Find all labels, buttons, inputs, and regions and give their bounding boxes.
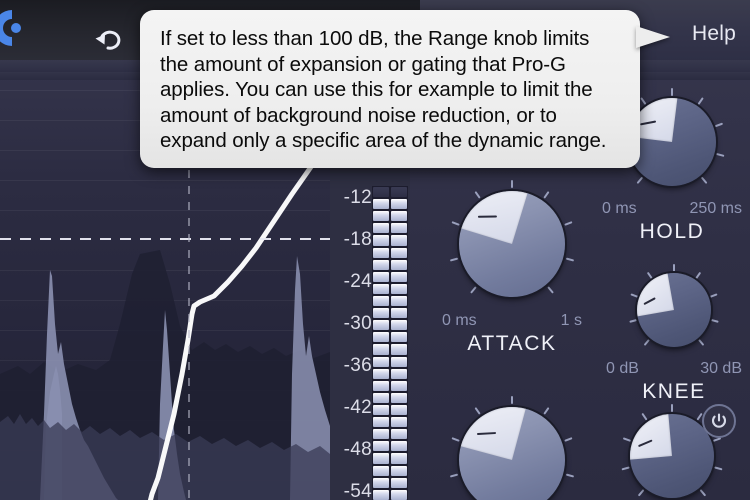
meter-segment <box>373 320 389 330</box>
meter-segment <box>373 357 389 367</box>
attack-label: ATTACK <box>432 332 592 356</box>
undo-arrow-icon <box>93 26 123 54</box>
knob-tick <box>623 437 631 442</box>
meter-segment <box>373 466 389 476</box>
meter-segment <box>373 478 389 488</box>
knob-group-attack: 0 ms 1 s ATTACK <box>432 180 592 356</box>
tooltip-text: If set to less than 100 dB, the Range kn… <box>160 26 620 154</box>
meter-segment <box>391 211 407 221</box>
meter-segment <box>373 248 389 258</box>
meter-segment <box>373 272 389 282</box>
meter-segment <box>391 393 407 403</box>
meter-segment <box>373 381 389 391</box>
meter-segment <box>373 344 389 354</box>
knob-tick <box>564 437 572 442</box>
knob-tick <box>474 407 480 415</box>
knee-range-labels: 0 dB 30 dB <box>606 360 742 378</box>
meter-column-left <box>373 186 389 500</box>
db-tick: -12 <box>326 187 372 209</box>
knob-tick <box>671 404 673 412</box>
meter-segment <box>373 284 389 294</box>
db-tick: -42 <box>326 397 372 419</box>
meter-segment <box>373 308 389 318</box>
knob-tick <box>511 180 513 188</box>
knob-tick <box>566 474 574 478</box>
meter-segment <box>391 429 407 439</box>
meter-segment <box>373 441 389 451</box>
hold-min-label: 0 ms <box>602 200 637 218</box>
meter-segment <box>391 248 407 258</box>
meter-segment <box>391 272 407 282</box>
meter-segment <box>373 405 389 415</box>
knob-tick <box>715 123 723 128</box>
brand-logo-icon[interactable] <box>0 4 26 52</box>
meter-segment <box>391 223 407 233</box>
attack-max-label: 1 s <box>561 312 582 330</box>
meter-segment <box>391 369 407 379</box>
meter-segment <box>391 235 407 245</box>
knob-tick <box>450 474 458 478</box>
meter-segment <box>391 357 407 367</box>
meter-segment <box>373 199 389 209</box>
meter-segment <box>391 478 407 488</box>
meter-segment <box>373 211 389 221</box>
power-button[interactable] <box>702 404 736 438</box>
knob-tick <box>716 153 724 157</box>
meter-segment <box>391 308 407 318</box>
knob-tick <box>543 407 549 415</box>
meter-segment <box>391 260 407 270</box>
db-tick: -36 <box>326 355 372 377</box>
knob-tick <box>641 413 647 421</box>
knob-tick <box>700 489 707 496</box>
meter-column-right <box>391 186 407 500</box>
plugin-window: -12 -18 -24 -30 -36 -42 -48 -54 -60 0 ms… <box>0 0 750 500</box>
knob-tick <box>710 319 718 323</box>
knob-tick <box>698 338 705 345</box>
meter-segment <box>391 296 407 306</box>
knee-knob[interactable] <box>628 264 720 356</box>
meter-segment <box>373 393 389 403</box>
knob-tick <box>470 286 477 293</box>
knob-tick <box>673 264 675 272</box>
meter-segment <box>373 429 389 439</box>
knob-tick <box>638 489 645 496</box>
meter-segment <box>391 344 407 354</box>
knob-tick <box>640 97 646 105</box>
knee-label: KNEE <box>606 380 742 404</box>
knob-tick <box>450 258 458 262</box>
meter-segment <box>391 199 407 209</box>
meter-segment <box>391 441 407 451</box>
attack-range-labels: 0 ms 1 s <box>432 312 592 330</box>
knob-tick <box>644 338 651 345</box>
knob-tick <box>566 258 574 262</box>
knob-tick <box>452 437 460 442</box>
knob-group-release <box>432 396 592 500</box>
attack-knob[interactable] <box>448 180 576 308</box>
meter-segment <box>391 453 407 463</box>
knob-tick <box>474 191 480 199</box>
meter-segment <box>391 405 407 415</box>
meter-segment <box>373 223 389 233</box>
knob-tick <box>698 97 704 105</box>
knob-tick <box>511 396 513 404</box>
knob-tick <box>452 221 460 226</box>
meter-segment <box>373 453 389 463</box>
meter-segment <box>373 490 389 500</box>
meter-segment <box>373 296 389 306</box>
gain-reduction-meter[interactable] <box>372 186 408 500</box>
attack-min-label: 0 ms <box>442 312 477 330</box>
meter-segment <box>391 284 407 294</box>
db-tick: -30 <box>326 313 372 335</box>
knob-tick <box>637 177 644 184</box>
undo-button[interactable] <box>86 20 130 60</box>
knee-min-label: 0 dB <box>606 360 639 378</box>
meter-segment <box>373 260 389 270</box>
meter-segment <box>391 187 407 197</box>
knob-tick <box>671 88 673 96</box>
knob-tick <box>543 191 549 199</box>
knob-tick <box>701 177 708 184</box>
db-tick: -18 <box>326 229 372 251</box>
knob-tick <box>630 293 638 298</box>
meter-segment <box>391 490 407 500</box>
meter-segment <box>373 235 389 245</box>
db-tick: -54 <box>326 481 372 500</box>
hold-label: HOLD <box>602 220 742 244</box>
knob-tick <box>709 293 717 298</box>
knob-tick <box>695 272 701 280</box>
meter-segment <box>373 187 389 197</box>
db-tick: -48 <box>326 439 372 461</box>
hold-max-label: 250 ms <box>690 200 742 218</box>
meter-segment <box>373 369 389 379</box>
knob-tick <box>629 319 637 323</box>
meter-segment <box>391 417 407 427</box>
help-tooltip: If set to less than 100 dB, the Range kn… <box>140 10 640 168</box>
meter-segment <box>391 320 407 330</box>
knob-tick <box>547 286 554 293</box>
meter-segment <box>391 466 407 476</box>
threshold-line[interactable] <box>0 238 330 240</box>
meter-segment <box>391 332 407 342</box>
hold-range-labels: 0 ms 250 ms <box>602 200 742 218</box>
knob-tick <box>622 466 630 470</box>
knob-group-knee: 0 dB 30 dB KNEE <box>606 264 742 404</box>
meter-segment <box>373 417 389 427</box>
knee-max-label: 30 dB <box>700 360 742 378</box>
power-icon <box>710 412 728 430</box>
knob-tick <box>564 221 572 226</box>
meter-segment <box>373 332 389 342</box>
knob-tick <box>714 466 722 470</box>
meter-segment <box>391 381 407 391</box>
tooltip-pointer <box>636 26 670 48</box>
help-button[interactable]: Help <box>692 22 736 46</box>
release-knob[interactable] <box>448 396 576 500</box>
knob-tick <box>647 272 653 280</box>
db-tick: -24 <box>326 271 372 293</box>
